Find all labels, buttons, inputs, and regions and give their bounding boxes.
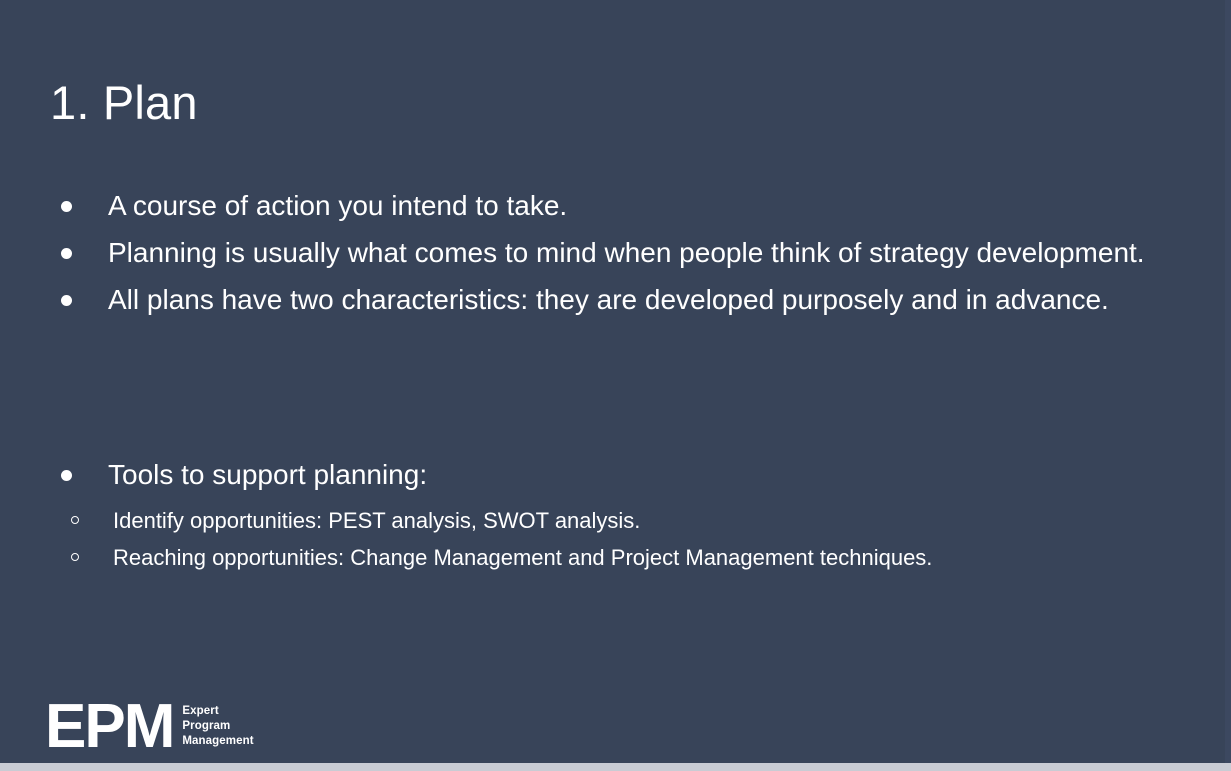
vertical-spacer [50, 324, 1160, 452]
epm-logo-mark: EPM [45, 698, 173, 755]
bullet-text: A course of action you intend to take. [108, 190, 567, 221]
slide-title: 1. Plan [50, 78, 198, 127]
logo-tagline-line-1: Expert [182, 704, 253, 719]
tools-heading-text: Tools to support planning: [108, 459, 427, 490]
slide-body: A course of action you intend to take. P… [50, 183, 1160, 576]
bullet-dot-icon [61, 295, 72, 306]
bullet-item: Planning is usually what comes to mind w… [50, 230, 1160, 276]
bullet-circle-icon [71, 553, 79, 561]
logo-tagline-line-2: Program [182, 719, 253, 734]
bullet-dot-icon [61, 201, 72, 212]
bullet-item: A course of action you intend to take. [50, 183, 1160, 229]
bullet-circle-icon [71, 516, 79, 524]
bullet-text: Planning is usually what comes to mind w… [108, 237, 1145, 268]
slide-bottom-edge [0, 763, 1231, 771]
tools-sub-list: Identify opportunities: PEST analysis, S… [50, 502, 1160, 576]
bullet-text: All plans have two characteristics: they… [108, 284, 1109, 315]
tools-heading-item: Tools to support planning: [50, 452, 1160, 498]
epm-logo-tagline: Expert Program Management [182, 704, 253, 749]
sub-bullet-text: Identify opportunities: PEST analysis, S… [113, 508, 640, 533]
bullet-dot-icon [61, 248, 72, 259]
epm-logo: EPM Expert Program Management [45, 698, 254, 755]
sub-bullet-text: Reaching opportunities: Change Managemen… [113, 545, 932, 570]
tools-bullet-list: Tools to support planning: [50, 452, 1160, 498]
sub-bullet-item: Identify opportunities: PEST analysis, S… [50, 502, 1160, 539]
logo-tagline-line-3: Management [182, 734, 253, 749]
slide-right-edge [1225, 0, 1231, 763]
presentation-slide: 1. Plan A course of action you intend to… [0, 0, 1231, 763]
sub-bullet-item: Reaching opportunities: Change Managemen… [50, 539, 1160, 576]
bullet-item: All plans have two characteristics: they… [50, 277, 1160, 323]
main-bullet-list: A course of action you intend to take. P… [50, 183, 1160, 323]
bullet-dot-icon [61, 470, 72, 481]
